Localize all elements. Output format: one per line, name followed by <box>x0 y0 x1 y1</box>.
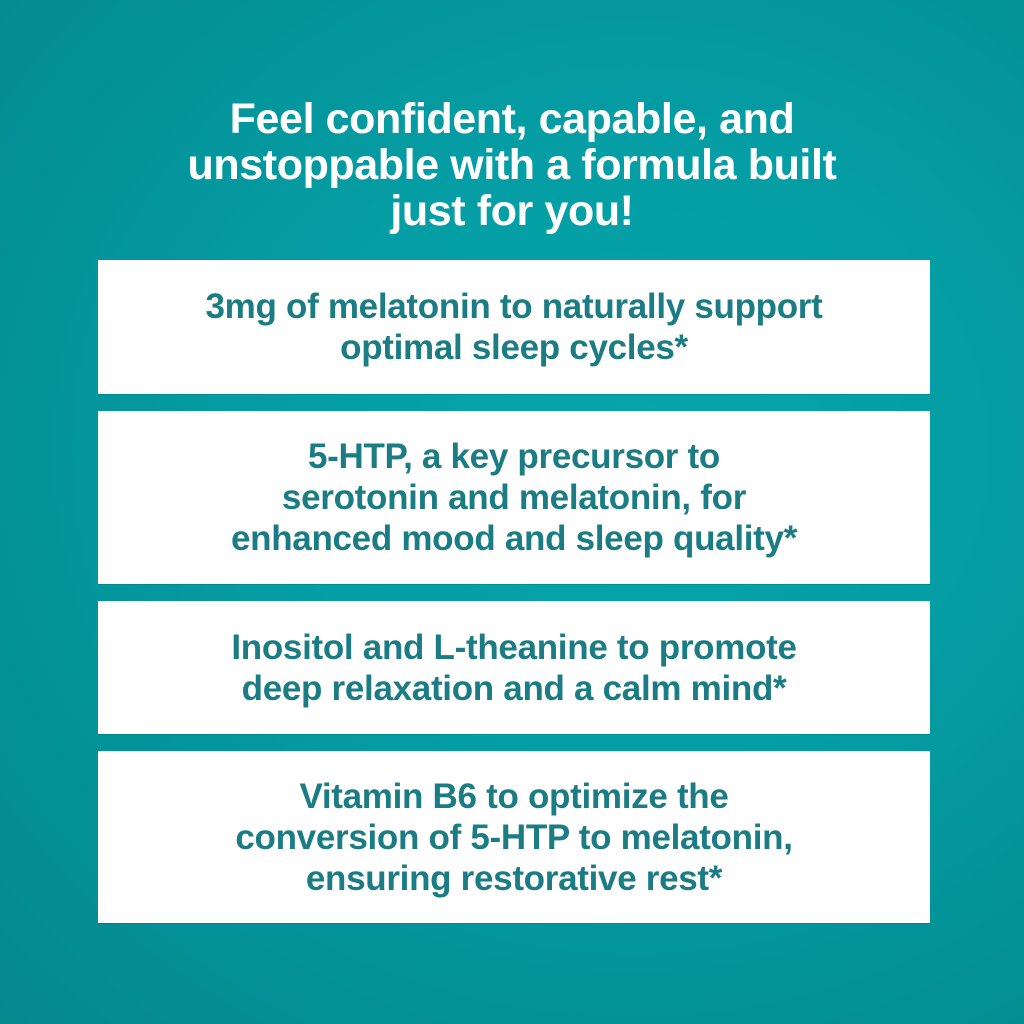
benefit-card-text: 5-HTP, a key precursor to serotonin and … <box>231 436 797 559</box>
headline-line-1: Feel confident, capable, and <box>40 96 984 142</box>
benefit-card-text: Vitamin B6 to optimize the conversion of… <box>235 776 792 899</box>
headline-line-3: just for you! <box>40 188 984 234</box>
benefit-card-melatonin: 3mg of melatonin to naturally support op… <box>98 260 930 394</box>
headline-line-2-bold: unstoppable with a formula built <box>188 141 837 189</box>
benefit-card-5-htp: 5-HTP, a key precursor to serotonin and … <box>98 411 930 584</box>
headline-line-3-bold: just for you! <box>390 187 633 235</box>
benefit-card-list: 3mg of melatonin to naturally support op… <box>98 260 930 940</box>
benefit-card-vitamin-b6: Vitamin B6 to optimize the conversion of… <box>98 751 930 923</box>
benefit-card-text: Inositol and L-theanine to promote deep … <box>231 627 796 709</box>
benefit-card-line: 5-HTP, a key precursor to <box>231 436 797 477</box>
headline-line-2: unstoppable with a formula built <box>40 142 984 188</box>
benefit-card-line: serotonin and melatonin, for <box>231 477 797 518</box>
benefit-card-line: deep relaxation and a calm mind* <box>231 668 796 709</box>
benefit-card-line: optimal sleep cycles* <box>206 327 823 368</box>
benefit-card-line: Inositol and L-theanine to promote <box>231 627 796 668</box>
benefit-card-line: ensuring restorative rest* <box>235 858 792 899</box>
headline-line-1-bold: confident, capable, and <box>326 95 795 143</box>
promo-poster: Feel confident, capable, and unstoppable… <box>0 0 1024 1024</box>
headline: Feel confident, capable, and unstoppable… <box>0 96 1024 234</box>
benefit-card-inositol-l-theanine: Inositol and L-theanine to promote deep … <box>98 601 930 734</box>
benefit-card-line: Vitamin B6 to optimize the <box>235 776 792 817</box>
benefit-card-text: 3mg of melatonin to naturally support op… <box>206 286 823 368</box>
headline-line-1-regular: Feel <box>230 95 326 143</box>
benefit-card-line: 3mg of melatonin to naturally support <box>206 286 823 327</box>
benefit-card-line: enhanced mood and sleep quality* <box>231 518 797 559</box>
benefit-card-line: conversion of 5-HTP to melatonin, <box>235 817 792 858</box>
